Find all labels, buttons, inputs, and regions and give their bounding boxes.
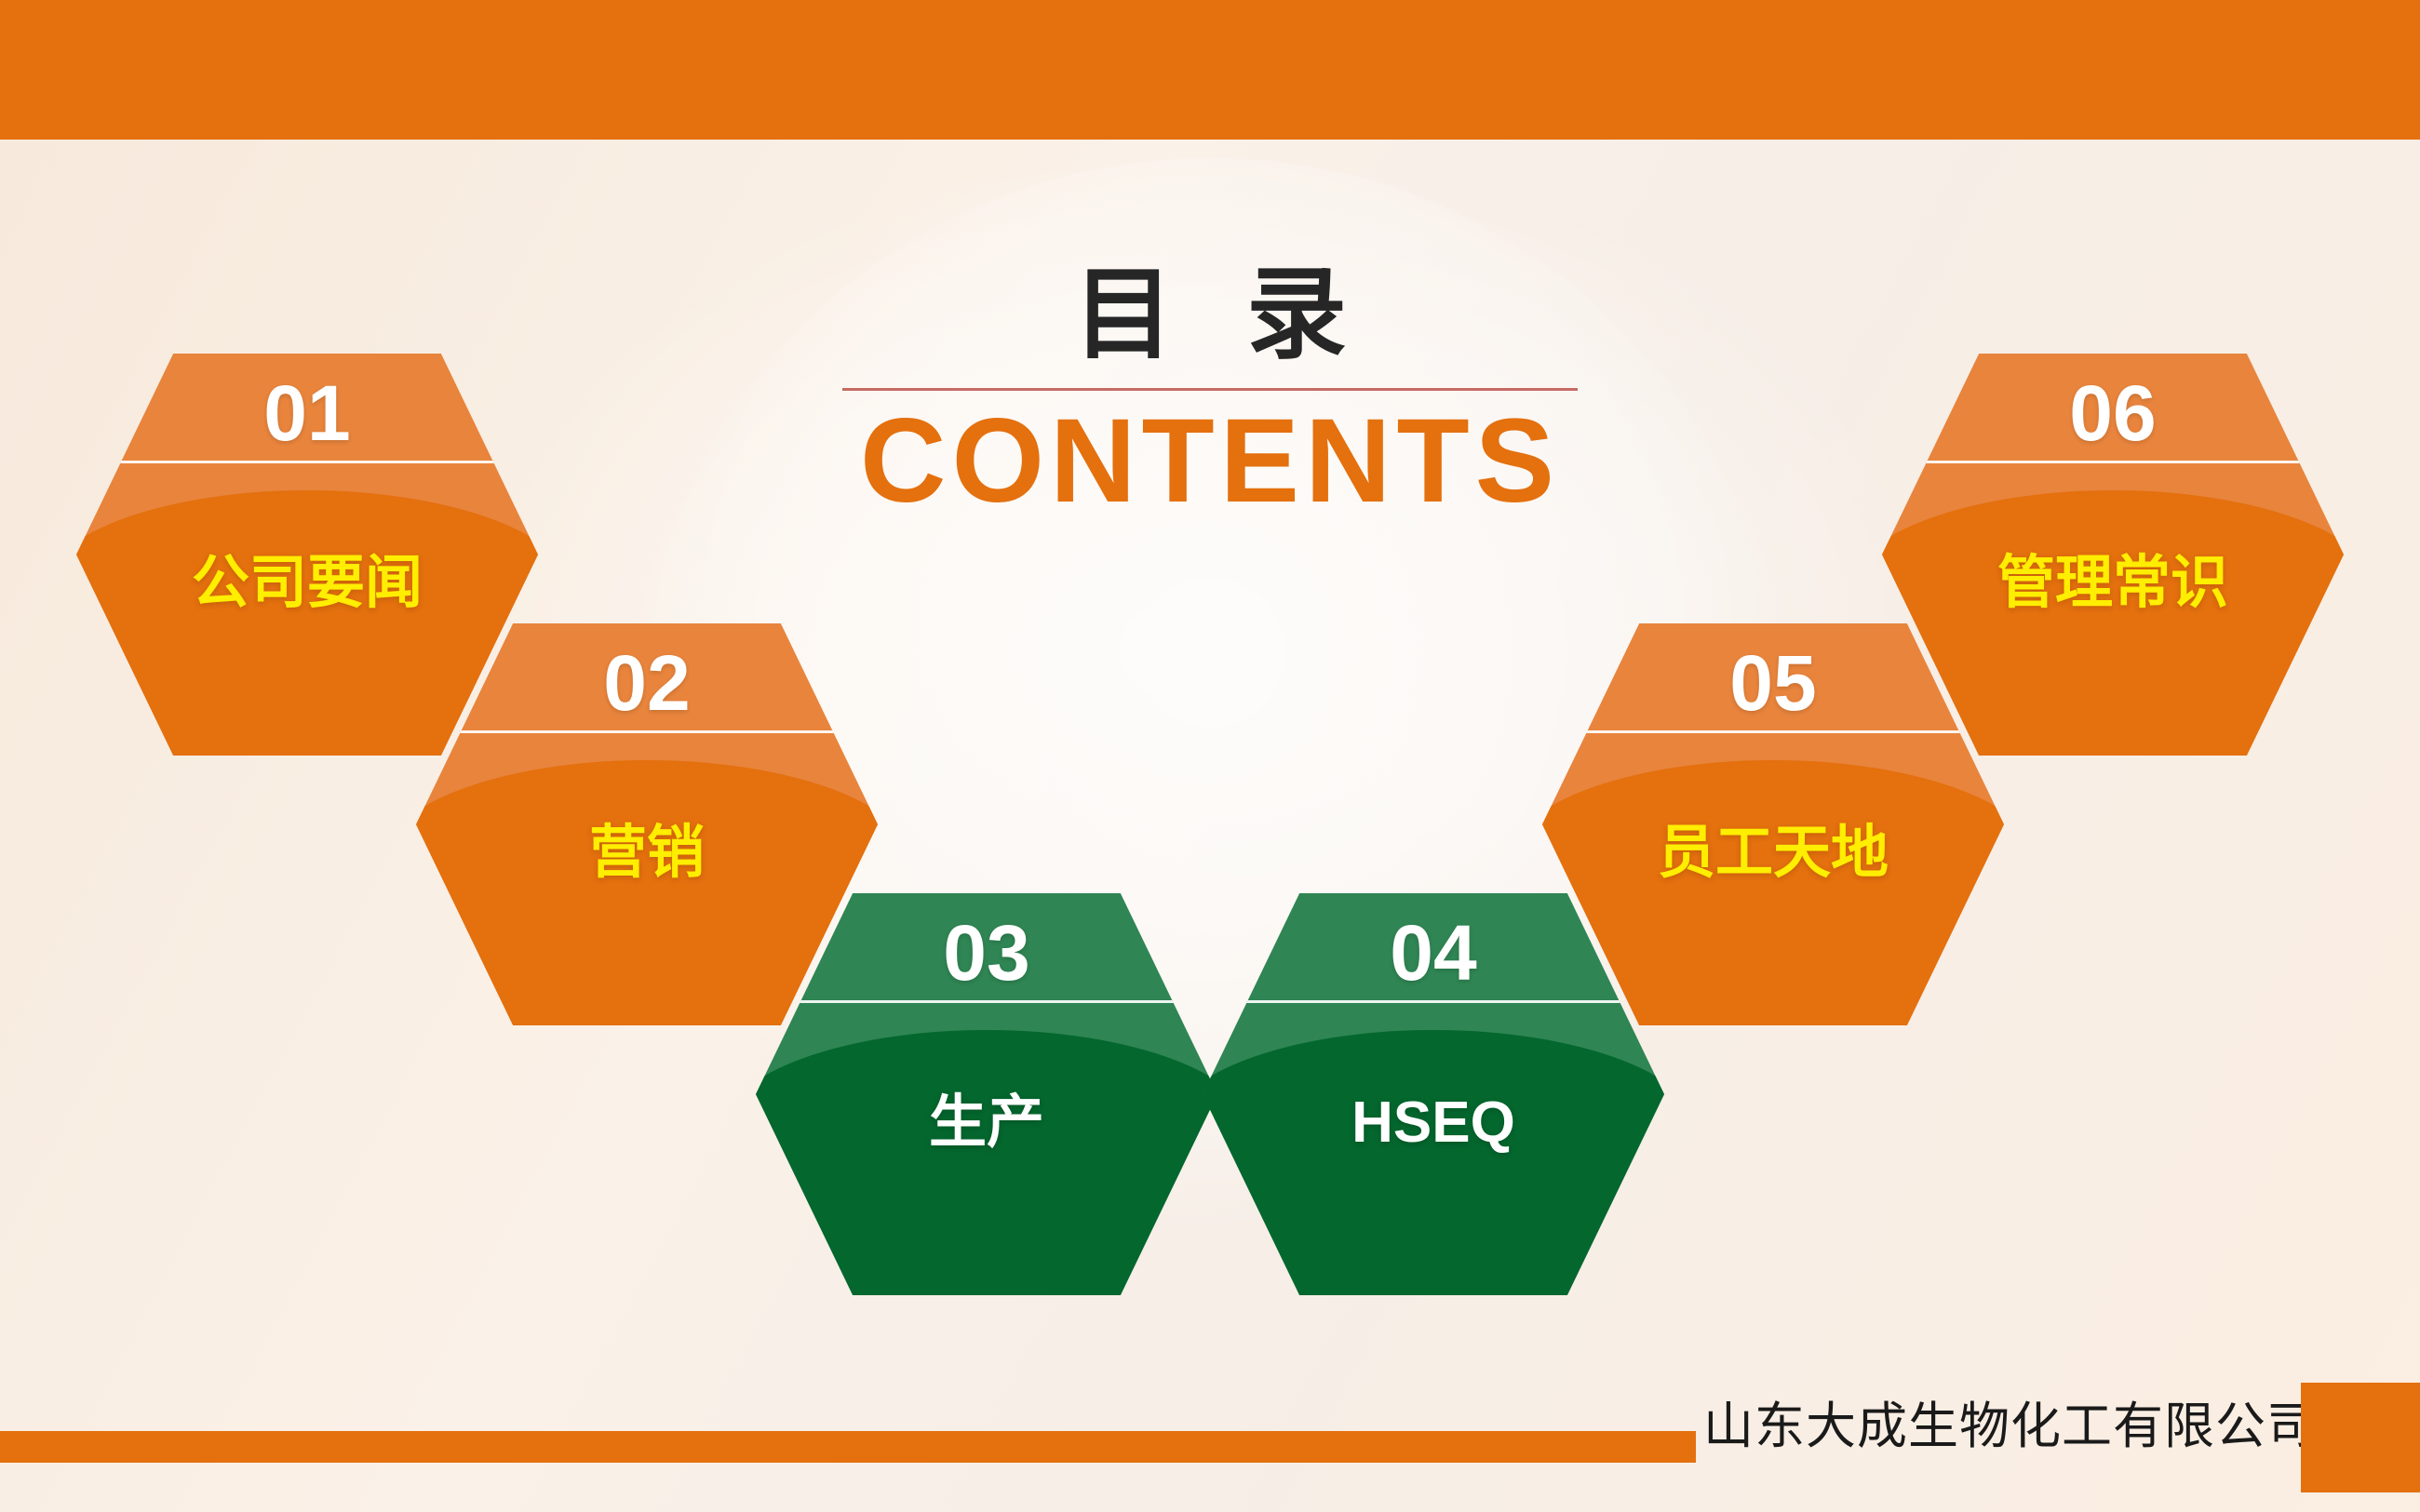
hex-divider-line xyxy=(118,461,497,463)
hex-divider-line xyxy=(798,1000,1176,1003)
title-block: 目 录 CONTENTS xyxy=(842,261,1578,524)
page-title-en: CONTENTS xyxy=(842,398,1578,525)
footer-company-name: 山东大成生物化工有限公司 xyxy=(1703,1386,2299,1466)
toc-item-label: 员工天地 xyxy=(1542,824,2004,882)
toc-item-label: 营销 xyxy=(416,824,878,882)
top-orange-bar xyxy=(0,0,2420,140)
toc-item-06[interactable]: 06 管理常识 xyxy=(1882,354,2344,756)
slide-canvas: 目 录 CONTENTS 01 公司要闻 02 营销 03 生产 04 HSEQ xyxy=(0,0,2420,1512)
background-sheen xyxy=(0,0,2420,1512)
hex-bottom-face xyxy=(1203,1030,1664,1295)
hex-divider-line xyxy=(1924,461,2303,463)
footer-orange-block xyxy=(2301,1383,2420,1492)
hex-divider-line xyxy=(1584,730,1963,733)
toc-item-01[interactable]: 01 公司要闻 xyxy=(76,354,538,756)
toc-item-04[interactable]: 04 HSEQ xyxy=(1203,893,1664,1295)
toc-item-number: 06 xyxy=(1882,374,2344,452)
toc-item-03[interactable]: 03 生产 xyxy=(756,893,1217,1295)
page-title-cn: 目 录 xyxy=(842,261,1578,369)
toc-item-label: HSEQ xyxy=(1203,1094,1664,1152)
toc-item-05[interactable]: 05 员工天地 xyxy=(1542,623,2004,1025)
title-divider-rule xyxy=(842,388,1578,391)
toc-item-02[interactable]: 02 营销 xyxy=(416,623,878,1025)
toc-item-number: 01 xyxy=(76,374,538,452)
hex-divider-line xyxy=(1244,1000,1623,1003)
footer-orange-rule xyxy=(0,1431,1696,1463)
toc-item-label: 管理常识 xyxy=(1882,555,2344,612)
hex-bottom-face xyxy=(756,1030,1217,1295)
toc-item-label: 公司要闻 xyxy=(76,555,538,612)
toc-item-label: 生产 xyxy=(756,1094,1217,1152)
hex-divider-line xyxy=(458,730,837,733)
